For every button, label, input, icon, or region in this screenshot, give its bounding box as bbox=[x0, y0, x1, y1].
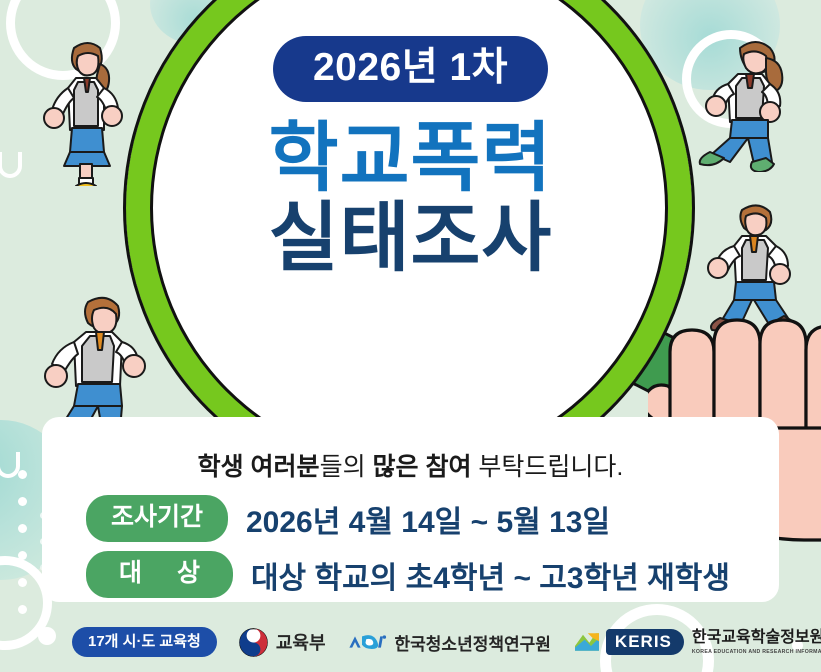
dot-icon bbox=[18, 497, 27, 506]
card-lead-text: 학생 여러분들의 많은 참여 부탁드립니다. bbox=[42, 447, 779, 483]
info-card: 학생 여러분들의 많은 참여 부탁드립니다. 조사기간 2026년 4월 14일… bbox=[42, 417, 779, 602]
logo-keris: KERIS 한국교육학술정보원 KOREA EDUCATION AND RESE… bbox=[573, 629, 821, 655]
dot-icon bbox=[18, 524, 27, 533]
value-target: 대상 학교의 초4학년 ~ 고3학년 재학생 bbox=[251, 553, 730, 597]
keris-wordmark: KERIS bbox=[606, 629, 684, 655]
dot-icon bbox=[18, 470, 27, 479]
logo-moe: 교육부 bbox=[239, 628, 326, 657]
keris-english-label: KOREA EDUCATION AND RESEARCH INFORMATION… bbox=[692, 649, 821, 655]
info-rows: 조사기간 2026년 4월 14일 ~ 5월 13일 대 상 대상 학교의 초4… bbox=[86, 495, 730, 607]
page-title-line2: 실태조사 bbox=[0, 200, 821, 278]
keris-mark-icon bbox=[573, 630, 601, 654]
nypi-label: 한국청소년정책연구원 bbox=[395, 630, 551, 655]
nypi-icon bbox=[348, 632, 390, 652]
footer-logos: 17개 시·도 교육청 교육부 한국청소년정책연구원 bbox=[0, 612, 821, 672]
label-pill-target: 대 상 bbox=[86, 551, 233, 598]
label-pill-period: 조사기간 bbox=[86, 495, 228, 542]
lead-light-1: 들의 bbox=[320, 453, 373, 481]
lead-bold-2: 많은 참여 bbox=[373, 453, 472, 481]
info-row-target: 대 상 대상 학교의 초4학년 ~ 고3학년 재학생 bbox=[86, 551, 730, 598]
keris-text-block: 한국교육학술정보원 KOREA EDUCATION AND RESEARCH I… bbox=[692, 629, 821, 655]
logo-nypi: 한국청소년정책연구원 bbox=[348, 630, 551, 655]
page-title-line1: 학교폭력 bbox=[0, 120, 821, 198]
offices-badge: 17개 시·도 교육청 bbox=[72, 627, 217, 657]
taeguk-icon bbox=[239, 628, 268, 657]
round-badge: 2026년 1차 bbox=[273, 36, 548, 102]
dot-icon bbox=[18, 551, 27, 560]
info-row-period: 조사기간 2026년 4월 14일 ~ 5월 13일 bbox=[86, 495, 730, 542]
dot-icon bbox=[18, 578, 27, 587]
keris-korean-label: 한국교육학술정보원 bbox=[692, 629, 821, 647]
moe-label: 교육부 bbox=[276, 629, 326, 655]
value-period: 2026년 4월 14일 ~ 5월 13일 bbox=[246, 497, 610, 541]
lead-light-2: 부탁드립니다. bbox=[471, 453, 623, 481]
poster-root: 2026년 1차 학교폭력 실태조사 학생 여러분들의 많은 참여 부탁드립니다… bbox=[0, 0, 821, 672]
headline-block: 2026년 1차 학교폭력 실태조사 bbox=[0, 0, 821, 279]
lead-bold-1: 학생 여러분 bbox=[198, 453, 320, 481]
